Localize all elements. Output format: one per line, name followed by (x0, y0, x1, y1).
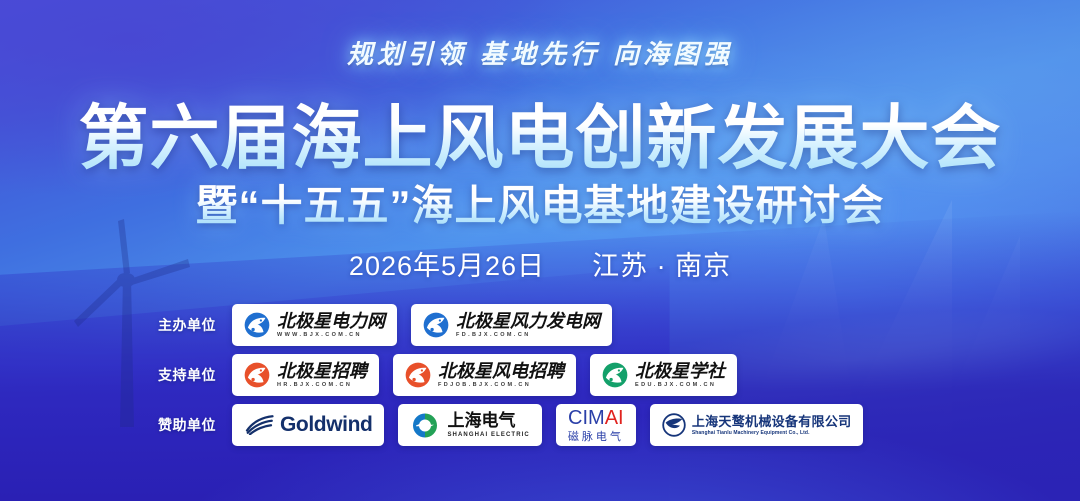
sponsor-logo-box[interactable]: 上海天鹜机械设备有限公司 Shanghai Tianlu Machinery E… (650, 404, 864, 446)
logo-url: FD.BJX.COM.CN (456, 333, 600, 339)
bjx-bird-icon (405, 362, 431, 388)
event-location: 江苏 · 南京 (592, 251, 731, 281)
banner-tagline: 规划引领 基地先行 向海图强 (0, 34, 1080, 71)
logo-name: 北极星招聘 (277, 362, 367, 380)
logo-name: Goldwind (280, 413, 372, 437)
logo-cimai: CIMAI 磁脉电气 (568, 408, 624, 443)
logo-url: HR.BJX.COM.CN (277, 383, 367, 389)
logo-name: 北极星风电招聘 (438, 362, 564, 380)
event-meta: 2026年5月26日 江苏 · 南京 (0, 244, 1080, 283)
logo-name-en: Shanghai Tianlu Machinery Equipment Co.,… (692, 431, 852, 436)
sponsor-logo-box[interactable]: 上海电气 SHANGHAI ELECTRIC (398, 404, 541, 446)
bjx-bird-icon (244, 362, 270, 388)
logo-tianlu: 上海天鹜机械设备有限公司 Shanghai Tianlu Machinery E… (662, 413, 852, 437)
logo-北极星电力网: 北极星电力网 WWW.BJX.COM.CN (244, 312, 385, 339)
bjx-bird-icon (602, 362, 628, 388)
logo-text: 北极星风力发电网 FD.BJX.COM.CN (456, 312, 600, 339)
logo-北极星风力发电网: 北极星风力发电网 FD.BJX.COM.CN (423, 312, 600, 339)
goldwind-wing-icon (244, 414, 274, 436)
sponsor-row-label: 赞助单位 (158, 415, 232, 435)
cimai-wordmark-icon: CIMAI (568, 408, 624, 428)
logo-name: 北极星风力发电网 (456, 312, 600, 330)
logo-text: 上海天鹜机械设备有限公司 Shanghai Tianlu Machinery E… (692, 415, 852, 436)
logo-text: 北极星风电招聘 FDJOB.BJX.COM.CN (438, 362, 564, 389)
sponsor-logo-box[interactable]: 北极星电力网 WWW.BJX.COM.CN (232, 304, 397, 346)
logo-url: FDJOB.BJX.COM.CN (438, 383, 564, 389)
logo-name: 磁脉电气 (568, 432, 624, 443)
logo-北极星学社: 北极星学社 EDU.BJX.COM.CN (602, 362, 725, 389)
logo-name: 上海天鹜机械设备有限公司 (692, 415, 852, 428)
logo-text: 上海电气 SHANGHAI ELECTRIC (447, 412, 529, 438)
sponsor-row: 支持单位 北极星招聘 HR.BJX.COM.CN 北极星风电招聘 FDJOB.B… (0, 353, 1080, 397)
shanghai-electric-arrow-icon (410, 412, 440, 439)
bjx-bird-icon (244, 312, 270, 338)
page-title: 第六届海上风电创新发展大会 (0, 82, 1080, 183)
logo-text: 北极星招聘 HR.BJX.COM.CN (277, 362, 367, 389)
logo-name: 北极星电力网 (277, 312, 385, 330)
sponsor-logo-box[interactable]: CIMAI 磁脉电气 (556, 404, 636, 446)
sponsor-row-label: 主办单位 (158, 315, 232, 335)
logo-北极星招聘: 北极星招聘 HR.BJX.COM.CN (244, 362, 367, 389)
sponsor-row: 主办单位 北极星电力网 WWW.BJX.COM.CN 北极星风力发电网 FD.B… (0, 303, 1080, 347)
logo-goldwind: Goldwind (244, 413, 372, 437)
logo-url: EDU.BJX.COM.CN (635, 383, 725, 389)
logo-北极星风电招聘: 北极星风电招聘 FDJOB.BJX.COM.CN (405, 362, 564, 389)
logo-word-red: AI (605, 407, 624, 429)
conference-banner: 规划引领 基地先行 向海图强 第六届海上风电创新发展大会 暨“十五五”海上风电基… (0, 0, 1080, 501)
logo-text: 北极星学社 EDU.BJX.COM.CN (635, 362, 725, 389)
event-date: 2026年5月26日 (349, 251, 545, 281)
logo-url: WWW.BJX.COM.CN (277, 333, 385, 339)
sponsor-row: 赞助单位 Goldwind 上海电气 SHANGHAI ELECTRIC CIM… (0, 403, 1080, 447)
sponsor-logo-box[interactable]: Goldwind (232, 404, 384, 446)
logo-name: 上海电气 (447, 412, 529, 429)
sponsor-logo-box[interactable]: 北极星学社 EDU.BJX.COM.CN (590, 354, 737, 396)
logo-word-blue: CIM (568, 407, 605, 429)
logo-name: 北极星学社 (635, 362, 725, 380)
tianlu-bird-icon (662, 413, 686, 437)
bjx-bird-icon (423, 312, 449, 338)
sponsor-logo-box[interactable]: 北极星风电招聘 FDJOB.BJX.COM.CN (393, 354, 576, 396)
logo-name-en: SHANGHAI ELECTRIC (447, 432, 529, 438)
sponsor-rows: 主办单位 北极星电力网 WWW.BJX.COM.CN 北极星风力发电网 FD.B… (0, 303, 1080, 453)
sponsor-row-label: 支持单位 (158, 365, 232, 385)
page-subtitle: 暨“十五五”海上风电基地建设研讨会 (0, 172, 1080, 233)
logo-shanghai-electric: 上海电气 SHANGHAI ELECTRIC (410, 412, 529, 439)
sponsor-logo-box[interactable]: 北极星风力发电网 FD.BJX.COM.CN (411, 304, 612, 346)
logo-text: 北极星电力网 WWW.BJX.COM.CN (277, 312, 385, 339)
sponsor-logo-box[interactable]: 北极星招聘 HR.BJX.COM.CN (232, 354, 379, 396)
